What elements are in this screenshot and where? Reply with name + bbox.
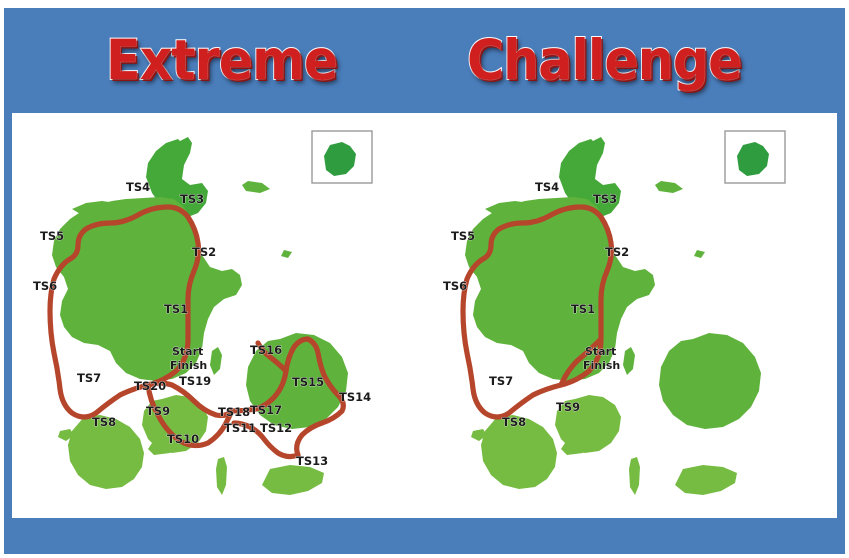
denmark-landmass <box>465 137 761 495</box>
stage-label-ts1: TS1 <box>164 302 188 316</box>
denmark-landmass <box>52 137 348 495</box>
title-challenge: Challenge <box>467 33 742 88</box>
land-langeland <box>216 457 227 495</box>
land-samso <box>623 347 635 375</box>
start-label: Start <box>585 345 616 358</box>
challenge-route-map[interactable]: TS1 TS2 TS3 TS4 TS5 TS6 TS7 TS8 TS9 Star… <box>425 113 837 518</box>
stage-label-ts13: TS13 <box>296 454 328 468</box>
stage-label-ts2: TS2 <box>605 245 629 259</box>
land-lolland-falster <box>262 465 324 495</box>
bornholm-inset <box>725 131 785 183</box>
challenge-map-svg: TS1 TS2 TS3 TS4 TS5 TS6 TS7 TS8 TS9 Star… <box>425 113 837 518</box>
stage-label-ts5: TS5 <box>40 229 64 243</box>
poster-frame: Extreme Challenge <box>4 8 845 554</box>
stage-label-ts12: TS12 <box>260 421 292 435</box>
land-lolland-falster <box>675 465 737 495</box>
poster-header: Extreme Challenge <box>4 8 845 113</box>
stage-label-ts17: TS17 <box>250 403 282 417</box>
stage-label-ts14: TS14 <box>339 390 371 404</box>
stage-label-ts5: TS5 <box>451 229 475 243</box>
start-label: Start <box>172 345 203 358</box>
stage-label-ts19: TS19 <box>179 374 211 388</box>
stage-label-ts6: TS6 <box>33 279 57 293</box>
stage-label-ts10: TS10 <box>167 432 199 446</box>
poster-bleed: Extreme Challenge <box>0 0 849 558</box>
stage-label-ts3: TS3 <box>180 192 204 206</box>
stage-label-ts4: TS4 <box>535 180 559 194</box>
extreme-map-svg: TS1 TS2 TS3 TS4 TS5 TS6 TS7 TS8 TS9 TS10… <box>12 113 424 518</box>
stage-label-ts8: TS8 <box>502 415 526 429</box>
land-zealand <box>659 333 761 429</box>
finish-label: Finish <box>583 359 620 372</box>
finish-label: Finish <box>170 359 207 372</box>
land-anholt <box>281 250 292 258</box>
stage-label-ts7: TS7 <box>77 371 101 385</box>
land-laeso <box>655 181 683 193</box>
stage-label-ts2: TS2 <box>192 245 216 259</box>
stage-label-ts20: TS20 <box>134 379 166 393</box>
stage-label-ts15: TS15 <box>292 375 324 389</box>
stage-label-ts16: TS16 <box>250 343 282 357</box>
stage-label-ts7: TS7 <box>489 374 513 388</box>
stage-label-ts8: TS8 <box>92 415 116 429</box>
stage-label-ts18: TS18 <box>218 405 250 419</box>
land-langeland <box>629 457 640 495</box>
maps-panel: TS1 TS2 TS3 TS4 TS5 TS6 TS7 TS8 TS9 TS10… <box>12 113 837 518</box>
stage-label-ts6: TS6 <box>443 279 467 293</box>
stage-label-ts4: TS4 <box>126 180 150 194</box>
land-laeso <box>242 181 270 193</box>
stage-label-ts3: TS3 <box>593 192 617 206</box>
land-samso <box>210 347 222 375</box>
bornholm-inset <box>312 131 372 183</box>
stage-label-ts9: TS9 <box>146 404 170 418</box>
stage-label-ts11: TS11 <box>224 421 256 435</box>
stage-label-ts9: TS9 <box>556 400 580 414</box>
stage-label-ts1: TS1 <box>571 302 595 316</box>
extreme-route-map[interactable]: TS1 TS2 TS3 TS4 TS5 TS6 TS7 TS8 TS9 TS10… <box>12 113 424 518</box>
land-anholt <box>694 250 705 258</box>
title-extreme: Extreme <box>106 33 337 88</box>
